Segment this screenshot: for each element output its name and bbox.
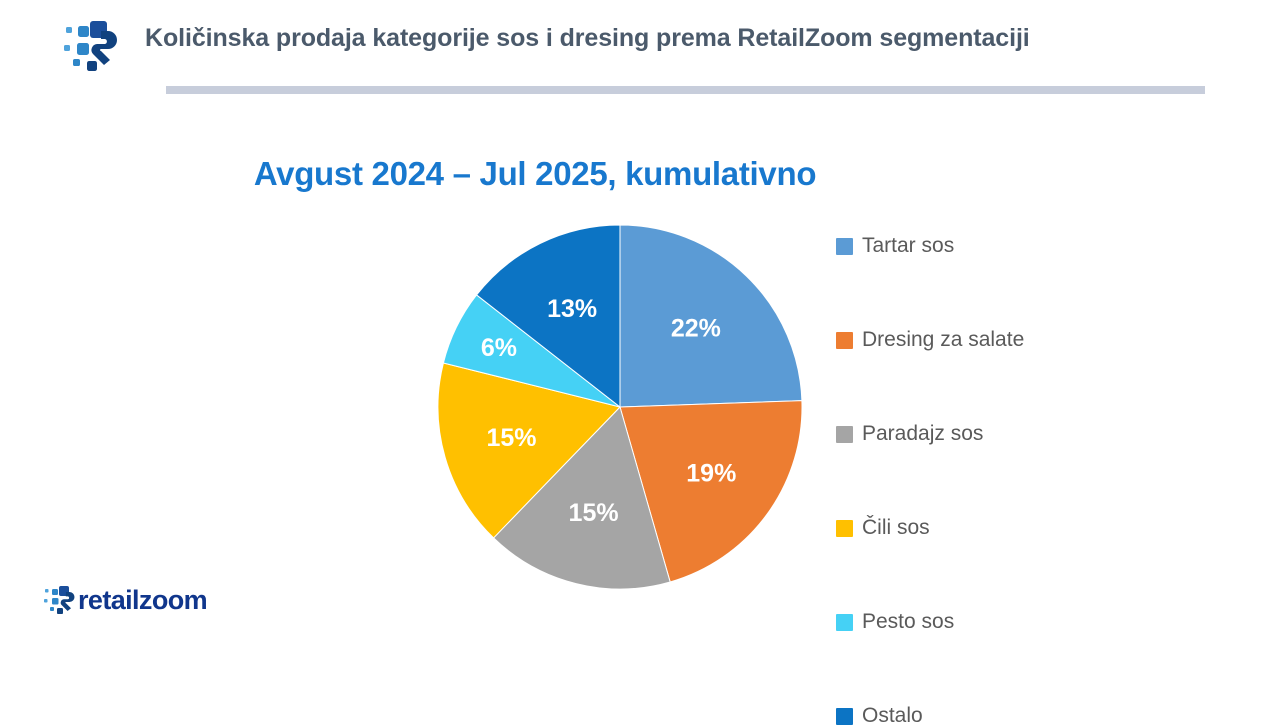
- legend-swatch-paradajz-sos: [836, 426, 853, 443]
- legend-item-paradajz-sos[interactable]: Paradajz sos: [836, 424, 1216, 444]
- footer-wordmark: retailzoom: [78, 585, 207, 616]
- legend-item-pesto-sos[interactable]: Pesto sos: [836, 612, 1216, 632]
- legend-swatch-ostalo: [836, 708, 853, 725]
- legend-label-paradajz-sos: Paradajz sos: [862, 422, 983, 446]
- chart-title: Avgust 2024 – Jul 2025, kumulativno: [254, 155, 816, 193]
- legend-swatch-cili-sos: [836, 520, 853, 537]
- header-divider: [166, 86, 1205, 94]
- chart-title-row: Avgust 2024 – Jul 2025, kumulativno: [0, 155, 1280, 193]
- pie-slice-label: 15%: [569, 499, 619, 527]
- pie-slice-label: 6%: [481, 334, 517, 362]
- retailzoom-dot-mark-icon: [57, 17, 119, 75]
- legend-swatch-dresing-za-salate: [836, 332, 853, 349]
- slide-header: Količinska prodaja kategorije sos i dres…: [0, 0, 1280, 100]
- legend-label-dresing-za-salate: Dresing za salate: [862, 328, 1024, 352]
- legend-label-tartar-sos: Tartar sos: [862, 234, 954, 258]
- legend-item-dresing-za-salate[interactable]: Dresing za salate: [836, 330, 1216, 350]
- legend-label-pesto-sos: Pesto sos: [862, 610, 954, 634]
- pie-slice-label: 13%: [547, 295, 597, 323]
- legend-item-ostalo[interactable]: Ostalo: [836, 706, 1216, 726]
- pie-chart: 22%19%15%15%6%13%: [437, 224, 803, 590]
- pie-chart-svg: 22%19%15%15%6%13%: [437, 224, 803, 590]
- retailzoom-dot-mark-icon: [42, 584, 76, 616]
- legend-label-cili-sos: Čili sos: [862, 516, 930, 540]
- pie-slice-label: 15%: [487, 424, 537, 452]
- legend-swatch-pesto-sos: [836, 614, 853, 631]
- legend-label-ostalo: Ostalo: [862, 704, 923, 728]
- chart-legend: Tartar sos Dresing za salate Paradajz so…: [836, 236, 1216, 726]
- legend-swatch-tartar-sos: [836, 238, 853, 255]
- pie-slice-label: 22%: [671, 314, 721, 342]
- footer-logo: retailzoom: [42, 580, 207, 620]
- legend-item-tartar-sos[interactable]: Tartar sos: [836, 236, 1216, 256]
- pie-slice-label: 19%: [686, 459, 736, 487]
- page-title: Količinska prodaja kategorije sos i dres…: [145, 24, 1030, 53]
- legend-item-cili-sos[interactable]: Čili sos: [836, 518, 1216, 538]
